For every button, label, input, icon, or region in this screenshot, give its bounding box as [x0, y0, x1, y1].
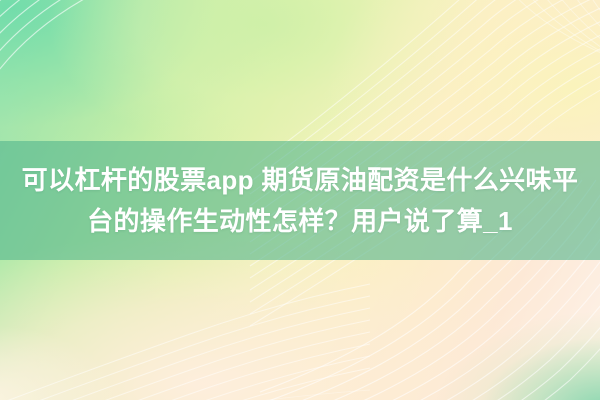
- cover-image: 可以杠杆的股票app 期货原油配资是什么兴味平台的操作生动性怎样？用户说了算_1: [0, 0, 600, 400]
- title-band: 可以杠杆的股票app 期货原油配资是什么兴味平台的操作生动性怎样？用户说了算_1: [0, 141, 600, 260]
- page-title: 可以杠杆的股票app 期货原油配资是什么兴味平台的操作生动性怎样？用户说了算_1: [20, 160, 580, 242]
